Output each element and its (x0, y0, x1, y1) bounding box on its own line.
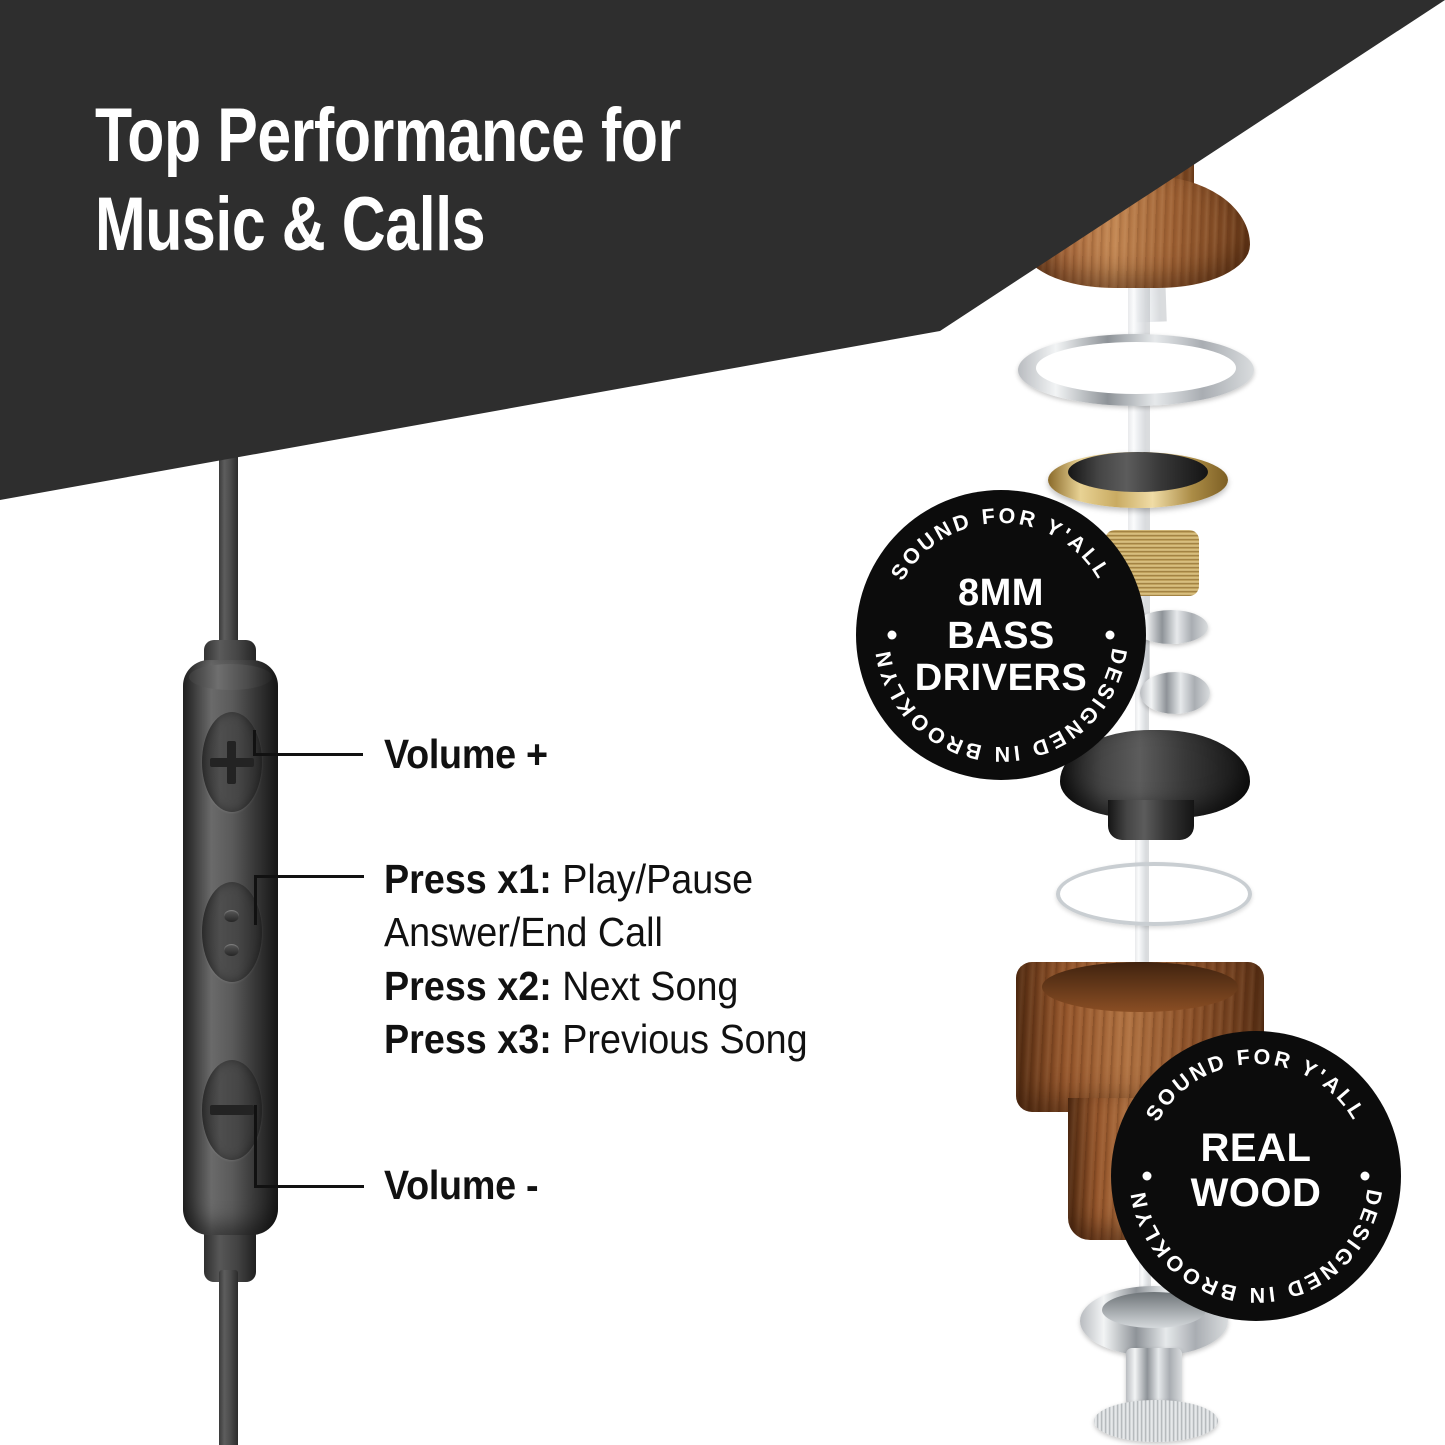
leader-line-volume-up-horizontal (253, 753, 363, 756)
press-line-2-action: Answer/End Call (384, 909, 663, 955)
press-line-3-label: Press x2: (384, 963, 552, 1009)
remote-top-lip (189, 664, 272, 690)
chrome-ring-large-hole (1036, 342, 1236, 394)
press-line-1-label: Press x1: (384, 856, 552, 902)
badge-wood-center-text: REAL WOOD (1111, 1126, 1401, 1216)
infographic-canvas: SOUND FOR Y'ALL DESIGNED IN BROOKLYN 8MM… (0, 0, 1445, 1445)
wood-housing-cup-bore (1042, 962, 1238, 1012)
gold-diaphragm-dome (1068, 452, 1208, 492)
plus-icon-vertical-bar (227, 741, 236, 784)
press-line-4: Press x3: Previous Song (384, 1013, 954, 1066)
multifunction-dot-lower (224, 944, 239, 956)
leader-line-volume-down-horizontal (254, 1185, 364, 1188)
press-line-3: Press x2: Next Song (384, 960, 954, 1013)
badge-bass-drivers: SOUND FOR Y'ALL DESIGNED IN BROOKLYN 8MM… (856, 490, 1146, 780)
black-driver-cone-stem (1108, 800, 1194, 840)
press-line-2: Answer/End Call (384, 906, 954, 959)
leader-line-multifunction-horizontal (254, 875, 364, 878)
callout-volume-up: Volume + (384, 731, 548, 778)
badge-wood-arc-top: SOUND FOR Y'ALL (1141, 1045, 1371, 1126)
multifunction-dot-upper (224, 910, 239, 922)
magnet-disc-lower (1140, 672, 1210, 714)
metal-base-disc (1094, 1400, 1218, 1442)
leader-line-multifunction-vertical (254, 875, 257, 925)
press-line-4-action: Previous Song (562, 1016, 807, 1062)
page-title: Top Performance for Music & Calls (95, 92, 759, 270)
press-line-1-action: Play/Pause (562, 856, 753, 902)
callout-volume-down: Volume - (384, 1162, 538, 1209)
press-line-3-action: Next Song (562, 963, 738, 1009)
minus-icon-bar (210, 1105, 254, 1115)
volume-up-button[interactable] (202, 712, 262, 812)
cable-lower (219, 1270, 238, 1445)
multifunction-button[interactable] (202, 882, 262, 982)
callout-press-instructions: Press x1: Play/Pause Answer/End Call Pre… (384, 853, 954, 1066)
chrome-nozzle-neck (1126, 1348, 1182, 1406)
press-line-4-label: Press x3: (384, 1016, 552, 1062)
svg-text:SOUND FOR Y'ALL: SOUND FOR Y'ALL (1141, 1045, 1371, 1126)
leader-line-volume-down-vertical (254, 1105, 257, 1188)
volume-down-button[interactable] (202, 1060, 262, 1160)
badge-bass-center-text: 8MM BASS DRIVERS (856, 572, 1146, 700)
chrome-ring-thin (1056, 862, 1252, 926)
badge-real-wood: SOUND FOR Y'ALL DESIGNED IN BROOKLYN REA… (1111, 1031, 1401, 1321)
press-line-1: Press x1: Play/Pause (384, 853, 954, 906)
